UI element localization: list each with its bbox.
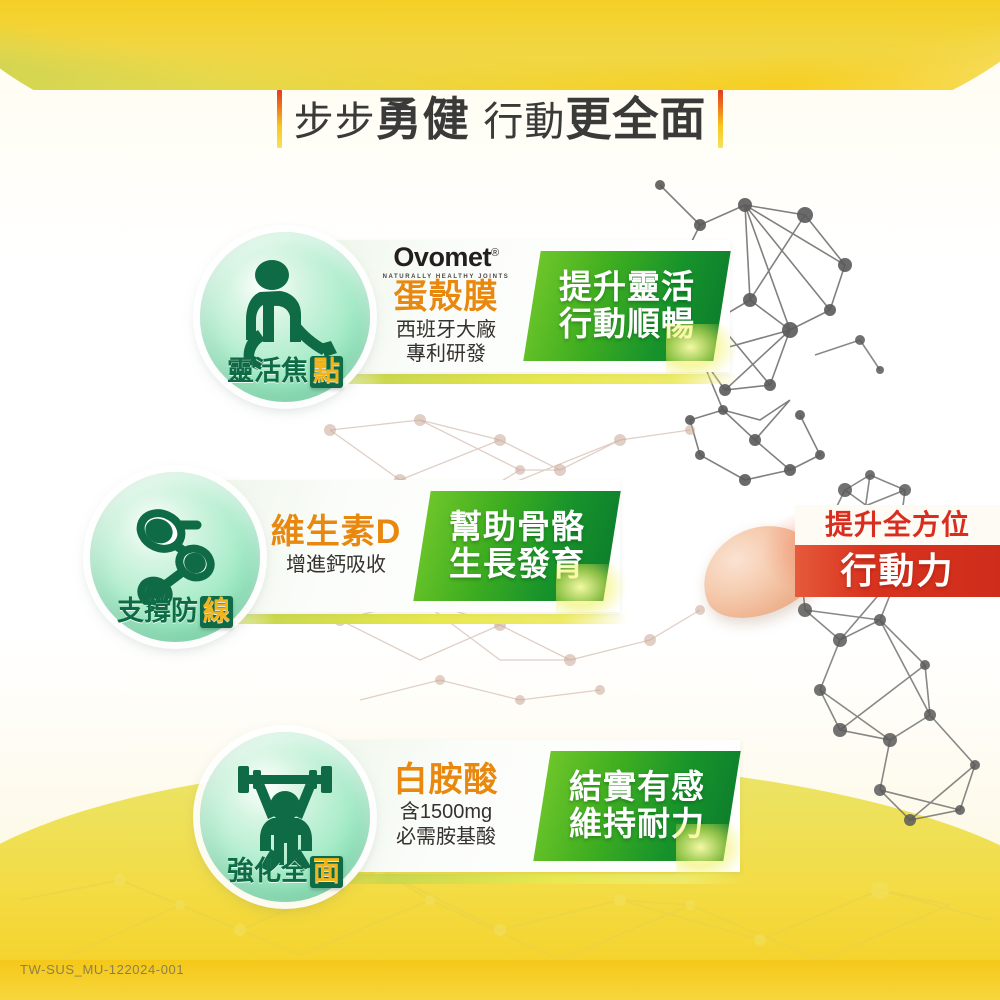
feature-card: Ovomet® NATURALLY HEALTHY JOINTS 蛋殼膜 西班牙…	[308, 240, 730, 372]
badge-label-highlight: 線	[200, 596, 233, 628]
title-part4: 更全面	[565, 93, 706, 145]
ovomet-logo: Ovomet® NATURALLY HEALTHY JOINTS	[383, 245, 510, 279]
highlight-top-text: 提升全方位	[825, 511, 970, 539]
benefit-line1: 提升靈活	[559, 269, 695, 306]
title-accent-bar-left	[277, 90, 282, 148]
feature-row-eggshell-membrane: Ovomet® NATURALLY HEALTHY JOINTS 蛋殼膜 西班牙…	[200, 232, 730, 382]
feature-row-leucine: 白胺酸 含1500mg 必需胺基酸 結實有感 維持耐力	[200, 732, 740, 882]
ingredient-name: 維生素D	[271, 515, 402, 551]
ingredient-sub: 含1500mg 必需胺基酸	[396, 800, 496, 849]
badge-label-main: 靈活焦	[227, 356, 308, 386]
benefit-line2: 生長發育	[449, 546, 585, 583]
benefit-text: 幫助骨骼 生長發育	[449, 509, 585, 583]
title-part3: 行動	[483, 100, 565, 144]
badge-label-highlight: 點	[310, 356, 343, 388]
feature-row-vitamin-d: 維生素D 增進鈣吸收 幫助骨骼 生長發育	[90, 472, 620, 622]
badge-label-main: 支撐防	[117, 596, 198, 626]
benefit-line2: 維持耐力	[569, 806, 705, 843]
feature-card: 維生素D 增進鈣吸收 幫助骨骼 生長發育	[198, 480, 620, 612]
badge-label: 強化全面	[227, 856, 343, 888]
title-text: 步步勇健 行動更全面	[294, 96, 707, 142]
benefit-banner: 結實有感 維持耐力	[533, 751, 740, 861]
card-underline	[198, 614, 628, 624]
benefit-line1: 結實有感	[569, 769, 705, 806]
feature-card: 白胺酸 含1500mg 必需胺基酸 結實有感 維持耐力	[308, 740, 740, 872]
ingredient-sub-line1: 西班牙大廠	[396, 318, 496, 342]
title-part1: 步步	[294, 100, 376, 144]
registered-trademark-icon: ®	[491, 247, 499, 259]
highlight-bottom-text: 行動力	[840, 553, 954, 589]
badge-label: 支撐防線	[117, 596, 233, 628]
ingredient-sub: 西班牙大廠 專利研發	[396, 318, 496, 367]
badge-label-main: 強化全	[227, 856, 308, 886]
title-part2: 勇健	[376, 93, 470, 145]
ovomet-text: Ovomet	[393, 242, 491, 272]
highlight-banner: 提升全方位 行動力	[795, 505, 1000, 597]
page-title: 步步勇健 行動更全面	[0, 86, 1000, 152]
ingredient-sub: 增進鈣吸收	[286, 553, 386, 577]
benefit-line1: 幫助骨骼	[449, 509, 585, 546]
title-accent-bar-right	[718, 90, 723, 148]
ingredient-sub-line2: 專利研發	[396, 342, 496, 366]
benefit-banner: 幫助骨骼 生長發育	[413, 491, 620, 601]
benefit-banner: 提升靈活 行動順暢	[523, 251, 730, 361]
benefit-line2: 行動順暢	[559, 306, 695, 343]
benefit-text: 結實有感 維持耐力	[569, 769, 705, 843]
feature-badge-flexibility: 靈活焦點	[200, 232, 370, 402]
card-underline	[308, 874, 748, 884]
footer-code: TW-SUS_MU-122024-001	[20, 962, 184, 977]
badge-label: 靈活焦點	[227, 356, 343, 388]
ingredient-name: 蛋殼膜	[394, 280, 499, 316]
ingredient-sub-line1: 含1500mg	[396, 800, 496, 824]
ingredient-sub-line1: 增進鈣吸收	[286, 553, 386, 577]
highlight-bottom: 行動力	[795, 545, 1000, 597]
highlight-top: 提升全方位	[795, 505, 1000, 545]
ingredient-sub-line2: 必需胺基酸	[396, 825, 496, 849]
ingredient-name: 白胺酸	[394, 763, 499, 799]
ovomet-wordmark: Ovomet®	[393, 244, 498, 271]
feature-badge-strength: 強化全面	[200, 732, 370, 902]
feature-badge-support: 支撐防線	[90, 472, 260, 642]
card-underline	[308, 374, 738, 384]
poster-canvas: 步步勇健 行動更全面 Ovomet® NATURALLY HEALTHY JOI…	[0, 0, 1000, 1000]
badge-label-highlight: 面	[310, 856, 343, 888]
benefit-text: 提升靈活 行動順暢	[559, 269, 695, 343]
